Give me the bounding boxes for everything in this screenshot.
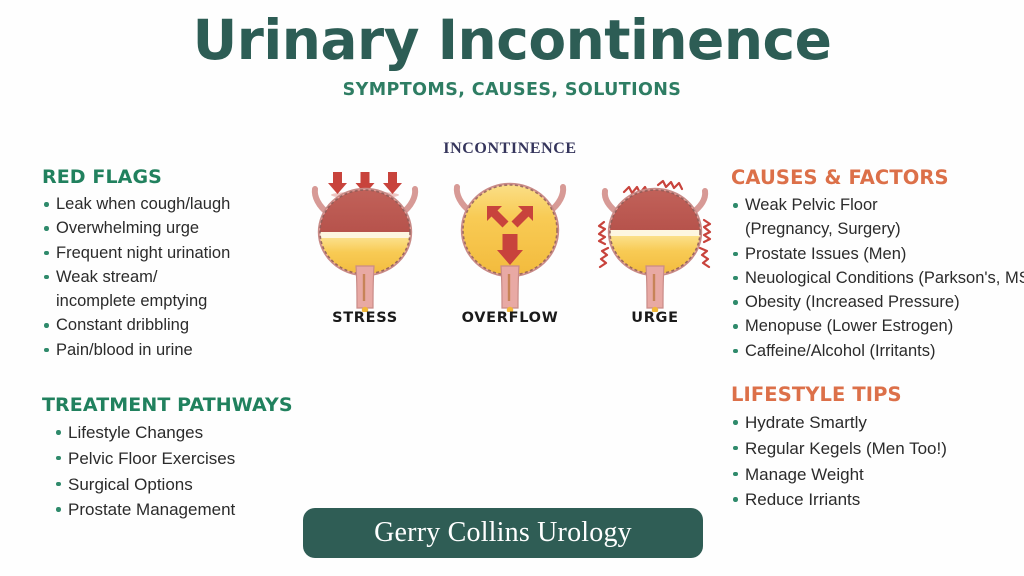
list-item-label: Weak Pelvic Floor (745, 196, 878, 214)
list-item: Reduce Irriants (731, 487, 947, 513)
bullet-dot-icon (56, 482, 61, 487)
bullet-dot-icon (733, 349, 738, 354)
list-item-label: Leak when cough/laugh (56, 195, 230, 213)
section-red-flags: RED FLAGS Leak when cough/laugh Overwhel… (42, 166, 230, 362)
lifestyle-tips-list: Hydrate Smartly Regular Kegels (Men Too!… (731, 410, 947, 513)
list-item-label: Hydrate Smartly (745, 413, 867, 432)
list-item: Prostate Management (54, 497, 293, 523)
list-item-label: Manage Weight (745, 465, 864, 484)
list-item-continuation: incomplete emptying (42, 289, 230, 313)
bullet-dot-icon (44, 251, 49, 256)
causes-factors-list: Weak Pelvic Floor (Pregnancy, Surgery) P… (731, 193, 1024, 363)
bladder-row: STRESS (300, 162, 720, 326)
bullet-dot-icon (56, 456, 61, 461)
bullet-dot-icon (44, 226, 49, 231)
red-flags-list: Leak when cough/laugh Overwhelming urge … (42, 192, 230, 362)
list-item-label: Pain/blood in urine (56, 341, 193, 359)
treatment-pathways-list: Lifestyle Changes Pelvic Floor Exercises… (42, 420, 293, 523)
bullet-dot-icon (56, 507, 61, 512)
list-item: Frequent night urination (42, 241, 230, 265)
section-lifestyle-tips: LIFESTYLE TIPS Hydrate Smartly Regular K… (731, 383, 947, 513)
bladder-label-overflow: OVERFLOW (445, 310, 575, 326)
list-item-label: Prostate Management (68, 500, 235, 519)
list-item-label: Pelvic Floor Exercises (68, 449, 235, 468)
bladder-urge: URGE (590, 162, 720, 326)
list-item-label: Frequent night urination (56, 244, 230, 262)
bladder-stress-illustration (302, 162, 428, 312)
section-causes-factors: CAUSES & FACTORS Weak Pelvic Floor (Preg… (731, 166, 1024, 363)
bullet-dot-icon (44, 323, 49, 328)
bullet-dot-icon (733, 472, 738, 477)
page-header: Urinary Incontinence SYMPTOMS, CAUSES, S… (0, 0, 1024, 100)
list-item-label: Obesity (Increased Pressure) (745, 293, 960, 311)
bullet-dot-icon (733, 300, 738, 305)
list-item: Regular Kegels (Men Too!) (731, 436, 947, 462)
page-subtitle: SYMPTOMS, CAUSES, SOLUTIONS (0, 70, 1024, 100)
list-item: Lifestyle Changes (54, 420, 293, 446)
bullet-dot-icon (733, 276, 738, 281)
list-item: Prostate Issues (Men) (731, 242, 1024, 266)
bladder-stress: STRESS (300, 162, 430, 326)
list-item-label: Overwhelming urge (56, 219, 199, 237)
list-item: Pain/blood in urine (42, 338, 230, 362)
brand-banner: Gerry Collins Urology (303, 508, 703, 558)
section-title-causes-factors: CAUSES & FACTORS (731, 166, 1024, 189)
section-treatment-pathways: TREATMENT PATHWAYS Lifestyle Changes Pel… (42, 394, 293, 523)
bullet-dot-icon (733, 446, 738, 451)
bullet-dot-icon (56, 430, 61, 435)
list-item-label: Neuological Conditions (Parkson's, MS) (745, 269, 1024, 287)
list-item: Overwhelming urge (42, 216, 230, 240)
bladder-urge-illustration (592, 162, 718, 312)
bladder-overflow-illustration (447, 162, 573, 312)
bullet-dot-icon (733, 420, 738, 425)
bullet-dot-icon (733, 252, 738, 257)
list-item-label: Caffeine/Alcohol (Irritants) (745, 342, 935, 360)
list-item-label: Regular Kegels (Men Too!) (745, 439, 947, 458)
page-title: Urinary Incontinence (0, 0, 1024, 70)
list-item: Menopuse (Lower Estrogen) (731, 314, 1024, 338)
list-item-label: Reduce Irriants (745, 490, 860, 509)
list-item: Hydrate Smartly (731, 410, 947, 436)
bullet-dot-icon (733, 203, 738, 208)
bullet-dot-icon (44, 348, 49, 353)
brand-name: Gerry Collins Urology (374, 517, 632, 549)
bladder-label-urge: URGE (590, 310, 720, 326)
section-title-lifestyle-tips: LIFESTYLE TIPS (731, 383, 947, 406)
list-item: Manage Weight (731, 462, 947, 488)
list-item: Caffeine/Alcohol (Irritants) (731, 339, 1024, 363)
list-item: Neuological Conditions (Parkson's, MS) (731, 266, 1024, 290)
bladder-label-stress: STRESS (300, 310, 430, 326)
list-item: Surgical Options (54, 472, 293, 498)
list-item-label: Surgical Options (68, 475, 193, 494)
list-item: Weak Pelvic Floor (731, 193, 1024, 217)
list-item: Obesity (Increased Pressure) (731, 290, 1024, 314)
bladder-overflow: OVERFLOW (445, 162, 575, 326)
bullet-dot-icon (733, 497, 738, 502)
list-item-label: Menopuse (Lower Estrogen) (745, 317, 953, 335)
list-item: Leak when cough/laugh (42, 192, 230, 216)
list-item-label: Weak stream/ (56, 268, 157, 286)
list-item: Weak stream/ (42, 265, 230, 289)
list-item: Pelvic Floor Exercises (54, 446, 293, 472)
diagram-heading: INCONTINENCE (300, 140, 720, 158)
section-title-treatment-pathways: TREATMENT PATHWAYS (42, 394, 293, 416)
incontinence-diagram: INCONTINENCE (300, 140, 720, 345)
bullet-dot-icon (44, 202, 49, 207)
list-item-label: Constant dribbling (56, 316, 189, 334)
bullet-dot-icon (44, 275, 49, 280)
list-item-label: (Pregnancy, Surgery) (745, 220, 901, 238)
list-item-label: incomplete emptying (56, 292, 207, 310)
section-title-red-flags: RED FLAGS (42, 166, 230, 188)
list-item-label: Lifestyle Changes (68, 423, 203, 442)
bullet-dot-icon (733, 324, 738, 329)
list-item-label: Prostate Issues (Men) (745, 245, 906, 263)
list-item-continuation: (Pregnancy, Surgery) (731, 217, 1024, 241)
list-item: Constant dribbling (42, 313, 230, 337)
